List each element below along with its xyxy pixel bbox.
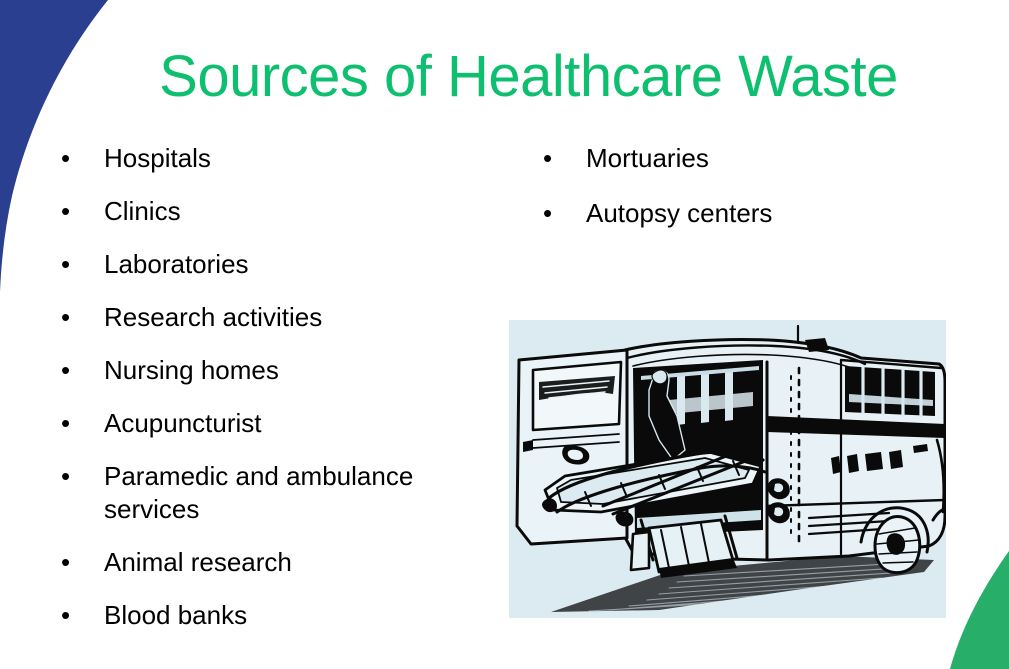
list-item-label: Nursing homes [104, 354, 478, 387]
list-item-label: Laboratories [104, 248, 478, 281]
list-item-label: Autopsy centers [586, 197, 940, 230]
bullet-dot-icon: • [543, 142, 552, 175]
list-item: • Clinics [58, 195, 478, 228]
list-item: • Laboratories [58, 248, 478, 281]
list-item: • Hospitals [58, 142, 478, 175]
list-item-label: Animal research [104, 546, 478, 579]
bullet-dot-icon: • [61, 460, 70, 493]
list-item: • Mortuaries [540, 142, 940, 175]
list-item-label: Acupuncturist [104, 407, 478, 440]
list-item: • Autopsy centers [540, 197, 940, 230]
list-item: • Animal research [58, 546, 478, 579]
page-title: Sources of Healthcare Waste [0, 44, 1009, 110]
list-item-label: Blood banks [104, 599, 478, 632]
bullet-dot-icon: • [61, 301, 70, 334]
list-item: • Acupuncturist [58, 407, 478, 440]
ambulance-line-art [517, 326, 946, 612]
list-item-label: Research activities [104, 301, 478, 334]
list-item: • Research activities [58, 301, 478, 334]
ambulance-illustration [509, 320, 946, 618]
bullet-list-right: • Mortuaries • Autopsy centers [540, 142, 940, 252]
bullet-dot-icon: • [61, 248, 70, 281]
bullet-dot-icon: • [61, 142, 70, 175]
list-item-label: Paramedic and ambulance services [104, 460, 478, 526]
attendant-head [652, 370, 667, 384]
list-item: • Nursing homes [58, 354, 478, 387]
bullet-dot-icon: • [61, 546, 70, 579]
bullet-dot-icon: • [61, 407, 70, 440]
bullet-dot-icon: • [61, 354, 70, 387]
list-item: • Blood banks [58, 599, 478, 632]
list-item-label: Mortuaries [586, 142, 940, 175]
list-item-label: Clinics [104, 195, 478, 228]
list-item: • Paramedic and ambulance services [58, 460, 478, 526]
bullet-dot-icon: • [61, 599, 70, 632]
rear-door-latch [523, 440, 533, 452]
bullet-list-left: • Hospitals • Clinics • Laboratories • R… [58, 142, 478, 652]
rear-bumper [631, 532, 649, 570]
bullet-dot-icon: • [543, 197, 552, 230]
green-wedge-shape [950, 551, 1009, 669]
roof-lightbar [805, 338, 829, 352]
list-item-label: Hospitals [104, 142, 478, 175]
presentation-slide: Sources of Healthcare Waste • Hospitals … [0, 0, 1009, 669]
bullet-dot-icon: • [61, 195, 70, 228]
